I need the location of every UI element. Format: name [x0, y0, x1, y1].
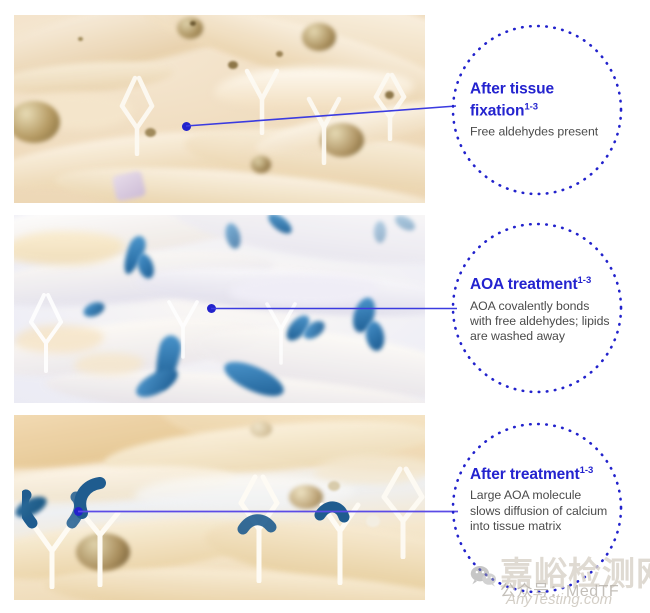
aoa-bound-molecule-icon: [310, 475, 370, 585]
callout-2-superscript: 1-3: [578, 275, 592, 286]
callout-after-treatment: After treatment1-3 Large AOA molecule sl…: [451, 422, 623, 594]
figure-panel-after-tissue-fixation: [14, 15, 425, 203]
callout-3-heading: After treatment1-3: [470, 462, 613, 484]
callout-1-body: Free aldehydes present: [470, 124, 613, 139]
aldehyde-molecule-icon: [304, 93, 344, 165]
figure-panel-after-treatment: [14, 415, 425, 600]
aldehyde-molecule-icon: [164, 297, 202, 359]
callout-3-superscript: 1-3: [580, 465, 594, 476]
panel-2-artwork: [14, 215, 425, 403]
figure-panel-aoa-treatment: [14, 215, 425, 403]
callout-node-3: [74, 507, 83, 516]
callout-3-body: Large AOA molecule slows diffusion of ca…: [470, 488, 613, 534]
aldehyde-molecule-icon: [24, 289, 68, 373]
aoa-bound-molecule-icon: [229, 473, 289, 583]
aldehyde-molecule-icon: [374, 463, 425, 559]
aldehyde-molecule-icon: [242, 65, 282, 135]
callout-1-superscript: 1-3: [524, 101, 538, 112]
callout-node-2: [207, 304, 216, 313]
aldehyde-molecule-icon: [114, 70, 160, 156]
callout-after-tissue-fixation: After tissue fixation1-3 Free aldehydes …: [451, 24, 623, 196]
aoa-bound-molecule-icon: [70, 477, 130, 587]
panel-1-artwork: [14, 15, 425, 203]
callout-2-body: AOA covalently bonds with free aldehydes…: [470, 299, 613, 345]
callout-node-1: [182, 122, 191, 131]
callout-1-heading: After tissue fixation1-3: [470, 80, 613, 119]
callout-aoa-treatment: AOA treatment1-3 AOA covalently bonds wi…: [451, 222, 623, 394]
aldehyde-molecule-icon: [262, 299, 300, 365]
callout-2-heading: AOA treatment1-3: [470, 272, 613, 294]
aldehyde-molecule-icon: [369, 71, 411, 141]
